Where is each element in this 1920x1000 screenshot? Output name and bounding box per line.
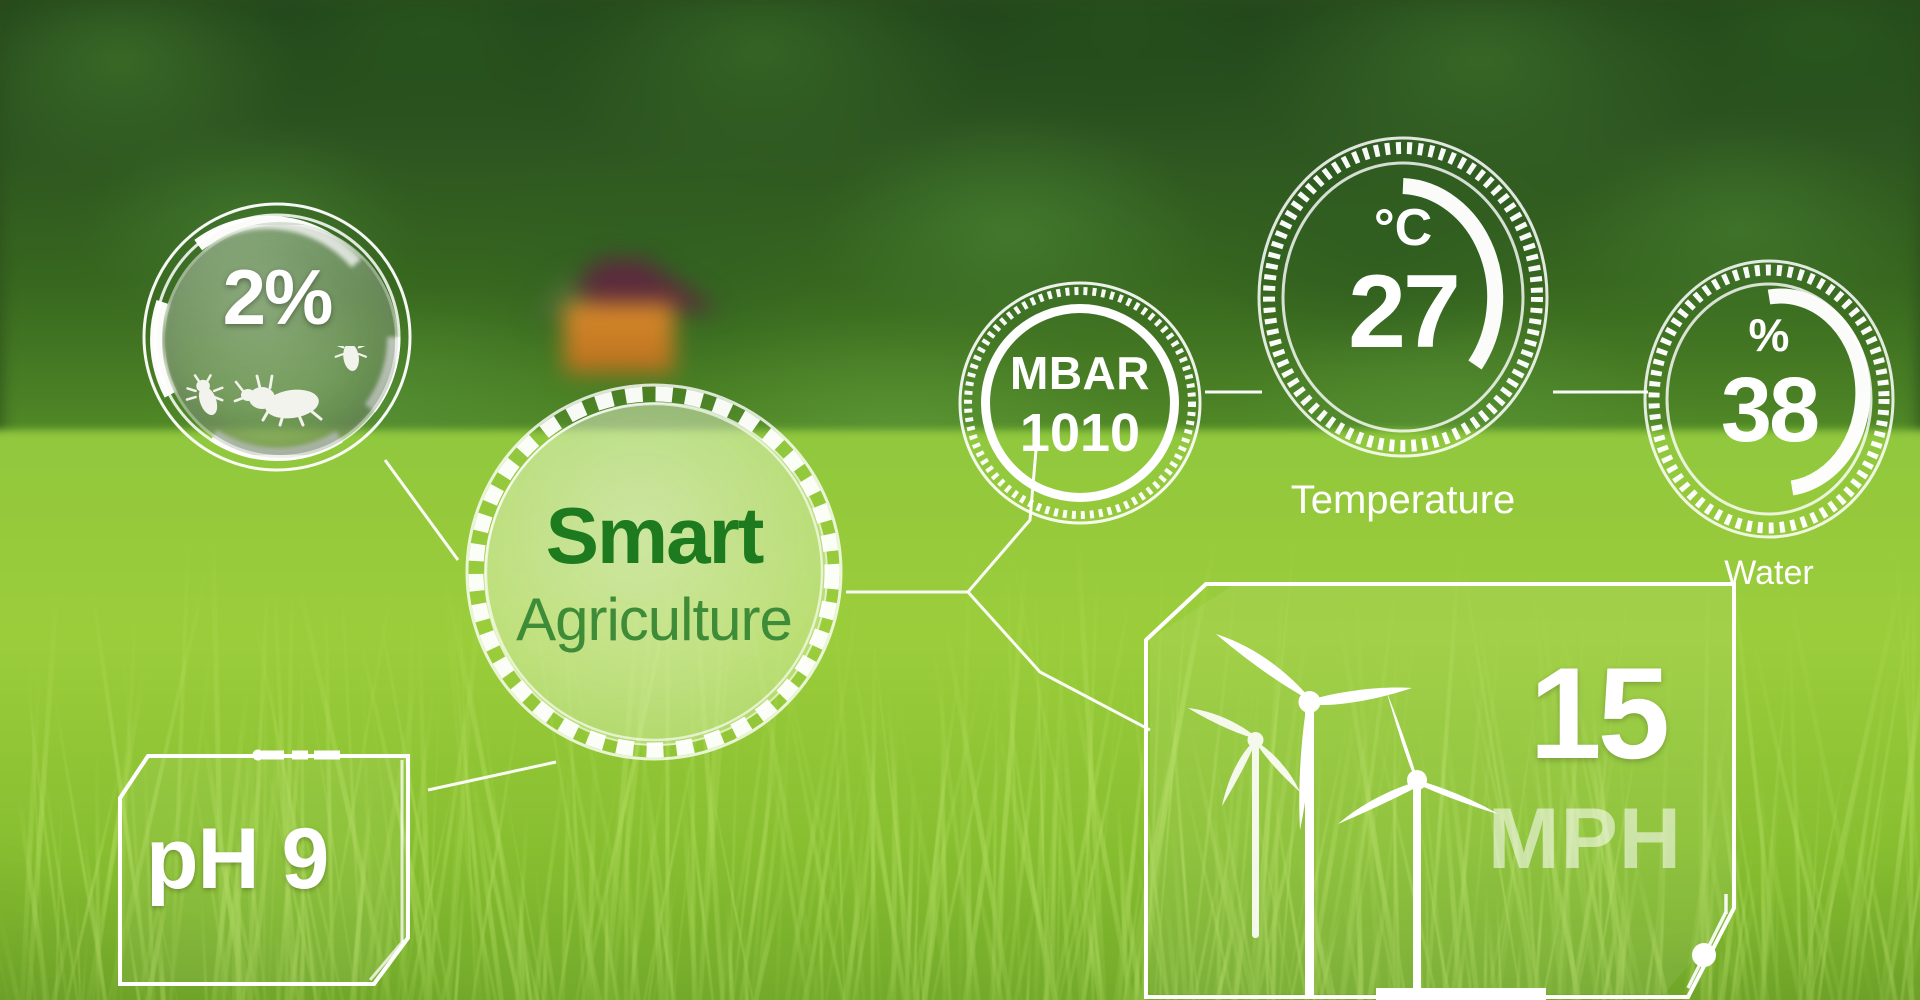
wind-value: 15 <box>1529 648 1666 778</box>
temperature-caption: Temperature <box>1245 480 1561 520</box>
pressure-gauge[interactable]: MBAR 1010 <box>955 278 1205 528</box>
water-gauge[interactable]: % 38 Water <box>1640 256 1898 542</box>
pressure-value: 1010 <box>955 406 1205 460</box>
hud-overlay: 2% <box>0 0 1920 1000</box>
wind-panel[interactable]: 15 MPH <box>1140 578 1740 1000</box>
screenshot-stage: 2% <box>0 0 1920 1000</box>
water-value: 38 <box>1640 364 1898 456</box>
hub-title-primary: Smart <box>460 496 848 576</box>
insects-icon <box>178 346 378 438</box>
water-unit: % <box>1640 312 1898 358</box>
ph-panel[interactable]: pH 9 <box>112 742 428 1000</box>
ph-value: pH 9 <box>146 816 328 902</box>
pressure-unit: MBAR <box>955 350 1205 396</box>
temperature-gauge[interactable]: °C 27 Temperature <box>1253 132 1553 462</box>
smart-agriculture-hub[interactable]: Smart Agriculture <box>460 378 848 766</box>
hub-title-secondary: Agriculture <box>460 590 848 650</box>
wind-unit: MPH <box>1488 796 1682 882</box>
connector-hub-to-wind <box>846 592 1150 730</box>
pest-value: 2% <box>138 258 416 336</box>
temperature-unit: °C <box>1253 202 1553 254</box>
pest-gauge[interactable]: 2% <box>138 198 416 476</box>
temperature-value: 27 <box>1253 260 1553 364</box>
connector-ph-to-hub <box>428 762 556 790</box>
